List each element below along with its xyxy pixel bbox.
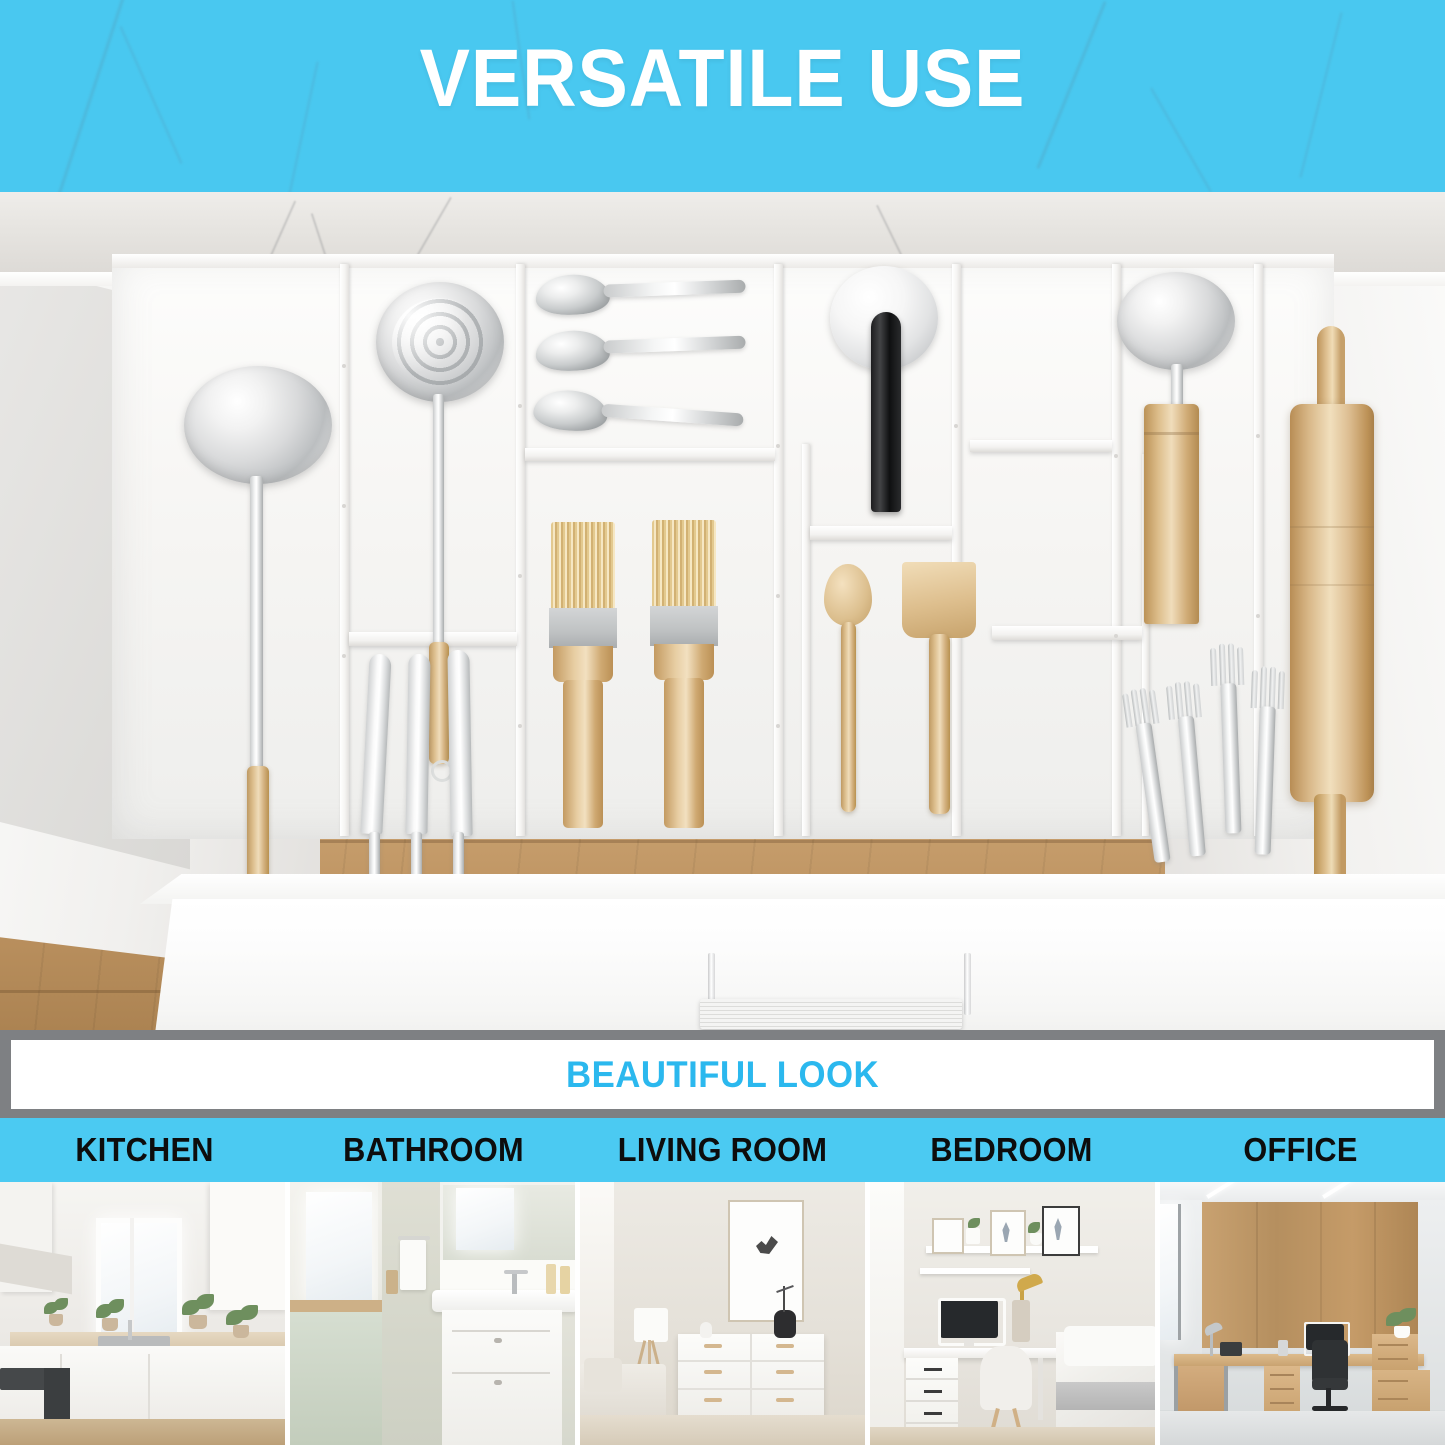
beautiful-look-box: BEAUTIFUL LOOK <box>11 1040 1434 1109</box>
kitchen-photo[interactable] <box>0 1182 290 1445</box>
drawer-organizer-tray <box>112 254 1334 839</box>
bedroom-photo[interactable] <box>870 1182 1160 1445</box>
office-chair <box>1312 1340 1348 1382</box>
room-label-office: OFFICE <box>1166 1118 1435 1182</box>
product-infographic: VERSATILE USE <box>0 0 1445 1445</box>
divider-vertical-6[interactable] <box>1112 264 1121 836</box>
divider-horizontal-spoons[interactable] <box>525 448 775 461</box>
divider-horizontal-wood-utensils[interactable] <box>970 440 1112 452</box>
drawer-front-panel[interactable] <box>152 899 1445 1030</box>
desk-chair <box>980 1346 1032 1410</box>
laptop <box>1220 1342 1242 1356</box>
beautiful-look-text: BEAUTIFUL LOOK <box>566 1054 879 1096</box>
hero-scene <box>0 192 1445 1030</box>
divider-vertical-3[interactable] <box>774 264 783 836</box>
divider-vertical-1[interactable] <box>340 264 349 836</box>
divider-vertical-4[interactable] <box>802 444 810 836</box>
room-label-bathroom: BATHROOM <box>299 1118 568 1182</box>
divider-horizontal-pestle[interactable] <box>992 626 1142 640</box>
divider-vertical-2[interactable] <box>516 264 525 836</box>
black-vase <box>774 1310 796 1338</box>
room-label-bar: KITCHEN BATHROOM LIVING ROOM BEDROOM OFF… <box>0 1118 1445 1182</box>
living-room-photo[interactable] <box>580 1182 870 1445</box>
office-photo[interactable] <box>1160 1182 1445 1445</box>
framed-art <box>728 1200 804 1322</box>
page-title: VERSATILE USE <box>58 38 1387 120</box>
divider-horizontal-pizzacutter[interactable] <box>810 526 952 540</box>
room-label-kitchen: KITCHEN <box>10 1118 279 1182</box>
room-label-bedroom: BEDROOM <box>877 1118 1146 1182</box>
open-drawer[interactable] <box>112 254 1334 954</box>
header-banner: VERSATILE USE <box>0 0 1445 192</box>
drawer-handle[interactable] <box>700 999 962 1029</box>
handle-post-right <box>964 953 971 1015</box>
tray-back-rim <box>112 254 1334 268</box>
tripod-lamp <box>634 1308 668 1342</box>
file-cabinet-upper <box>1372 1334 1418 1370</box>
beautiful-look-banner: BEAUTIFUL LOOK <box>0 1030 1445 1118</box>
divider-vertical-5[interactable] <box>952 264 961 836</box>
wall-shelf-lower <box>920 1268 1030 1274</box>
bathroom-photo[interactable] <box>290 1182 580 1445</box>
room-photo-strip <box>0 1182 1445 1445</box>
room-label-living-room: LIVING ROOM <box>588 1118 857 1182</box>
